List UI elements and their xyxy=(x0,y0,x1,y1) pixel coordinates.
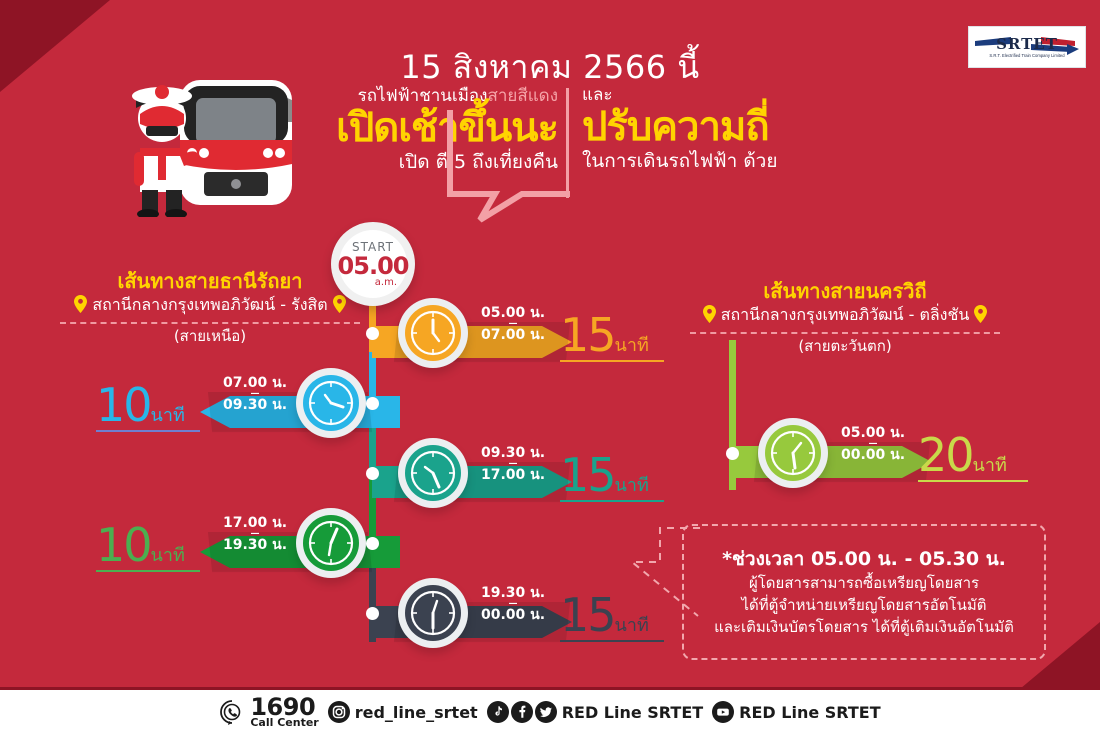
time-row-1: 05.00 น. — 07.00 น. 15นาที xyxy=(360,298,690,384)
start-badge-inner: START 05.00 a.m. xyxy=(339,230,407,298)
frequency-number: 10 xyxy=(96,378,151,432)
footer-contact-bar: 1690 Call Center red_line_srtet xyxy=(0,690,1100,734)
time-to: 09.30 น. xyxy=(223,397,287,414)
timeline-node-3 xyxy=(366,467,379,480)
timeline-node-2 xyxy=(366,397,379,410)
timeline-node-4 xyxy=(366,537,379,550)
frequency-unit: นาที xyxy=(615,615,649,636)
headline-left-sub-prefix: รถไฟฟ้าชานเมือง xyxy=(358,86,488,106)
headline-right-big: ปรับความถี่ xyxy=(582,105,882,149)
time-row-5: 19.30 น. — 00.00 น. 15นาที xyxy=(360,578,690,664)
frequency-number: 10 xyxy=(96,518,151,572)
frequency-unit: นาที xyxy=(615,475,649,496)
timeline-node-5 xyxy=(366,607,379,620)
twitter-icon[interactable] xyxy=(535,701,557,723)
svg-text:S.R.T. Electrified Train Compa: S.R.T. Electrified Train Company Limited xyxy=(989,53,1065,58)
frequency-unit: นาที xyxy=(973,455,1007,476)
instagram-icon[interactable] xyxy=(328,701,350,723)
route-subtitle: (สายตะวันตก) xyxy=(690,336,1000,356)
start-badge-time: 05.00 xyxy=(338,254,409,278)
route-heading-thani-rattaya: เส้นทางสายธานีรัถยา สถานีกลางกรุงเทพอภิว… xyxy=(60,268,360,346)
clock-icon-5 xyxy=(398,578,468,648)
time-to: 00.00 น. xyxy=(481,607,545,624)
frequency-3: 15นาที xyxy=(560,452,664,502)
instagram-handle: red_line_srtet xyxy=(355,703,478,722)
map-pin-icon xyxy=(703,305,716,329)
route-divider xyxy=(690,332,1000,334)
map-pin-icon xyxy=(74,295,87,319)
headline-right-note: ในการเดินรถไฟฟ้า ด้วย xyxy=(582,149,882,173)
time-row-3: 09.30 น. — 17.00 น. 15นาที xyxy=(360,438,690,524)
note-line-3: และเติมเงินบัตรโดยสาร ได้ที่ตู้เติมเงินอ… xyxy=(714,616,1014,638)
route-title: เส้นทางสายธานีรัถยา xyxy=(60,268,360,294)
clock-icon-1 xyxy=(398,298,468,368)
start-badge: START 05.00 a.m. xyxy=(331,222,415,306)
time-to: 17.00 น. xyxy=(481,467,545,484)
svg-text:SRTET: SRTET xyxy=(996,35,1058,53)
note-line-1: ผู้โดยสารสามารถซื้อเหรียญโดยสาร xyxy=(749,572,979,594)
frequency-number: 20 xyxy=(918,428,973,482)
srtet-logo: SRTET S.R.T. Electrified Train Company L… xyxy=(968,26,1086,68)
time-range-1: 05.00 น. — 07.00 น. xyxy=(470,298,556,350)
time-to: 07.00 น. xyxy=(481,327,545,344)
start-badge-suffix: a.m. xyxy=(375,278,397,288)
headline-left-sub-highlight: สายสีแดง xyxy=(487,86,558,106)
social-icon-group[interactable] xyxy=(487,701,557,723)
note-line-2: ได้ที่ตู้จำหน่ายเหรียญโดยสารอัตโนมัติ xyxy=(741,594,986,616)
timeline-node-1 xyxy=(366,327,379,340)
time-range-4: 17.00 น. — 19.30 น. xyxy=(212,508,298,560)
instagram-block[interactable]: red_line_srtet xyxy=(328,701,478,723)
frequency-right-1: 20นาที xyxy=(918,432,1028,482)
train-icon xyxy=(180,80,292,205)
route-stations-text: สถานีกลางกรุงเทพอภิวัฒน์ - ตลิ่งชัน xyxy=(721,305,970,324)
social-block[interactable]: RED Line SRTET xyxy=(487,701,703,723)
social-handle: RED Line SRTET xyxy=(562,703,703,722)
frequency-number: 15 xyxy=(560,308,615,362)
time-row-2: 07.00 น. — 09.30 น. 10นาที xyxy=(100,368,390,454)
note-box: *ช่วงเวลา 05.00 น. - 05.30 น. ผู้โดยสารส… xyxy=(682,524,1046,660)
call-center-label: Call Center xyxy=(250,717,318,728)
time-row-4: 17.00 น. — 19.30 น. 10นาที xyxy=(100,508,390,594)
clock-icon-4 xyxy=(296,508,366,578)
staff-and-train-illustration xyxy=(112,52,302,217)
frequency-4: 10นาที xyxy=(96,522,200,572)
time-row-right-1: 05.00 น. — 00.00 น. 20นาที xyxy=(720,418,1050,504)
timeline-node-right-1 xyxy=(726,447,739,460)
time-range-3: 09.30 น. — 17.00 น. xyxy=(470,438,556,490)
route-subtitle: (สายเหนือ) xyxy=(60,326,360,346)
youtube-icon[interactable] xyxy=(712,701,734,723)
headline-right: และ ปรับความถี่ ในการเดินรถไฟฟ้า ด้วย xyxy=(582,86,882,173)
map-pin-icon xyxy=(974,305,987,329)
route-title: เส้นทางสายนครวิถี xyxy=(690,278,1000,304)
route-stations: สถานีกลางกรุงเทพอภิวัฒน์ - ตลิ่งชัน xyxy=(690,304,1000,329)
srtet-logo-mark: SRTET S.R.T. Electrified Train Company L… xyxy=(971,30,1083,64)
route-stations-text: สถานีกลางกรุงเทพอภิวัฒน์ - รังสิต xyxy=(92,295,327,314)
route-divider xyxy=(60,322,360,324)
frequency-unit: นาที xyxy=(615,335,649,356)
frequency-unit: นาที xyxy=(151,545,185,566)
call-center-number: 1690 xyxy=(250,697,318,717)
youtube-block[interactable]: RED Line SRTET xyxy=(712,701,880,723)
call-center-block: 1690 Call Center xyxy=(219,697,318,728)
headline-and-label: และ xyxy=(582,86,882,105)
frequency-number: 15 xyxy=(560,448,615,502)
time-to: 00.00 น. xyxy=(841,447,905,464)
time-range-5: 19.30 น. — 00.00 น. xyxy=(470,578,556,630)
frequency-unit: นาที xyxy=(151,405,185,426)
frequency-1: 15นาที xyxy=(560,312,664,362)
tiktok-icon[interactable] xyxy=(487,701,509,723)
note-title: *ช่วงเวลา 05.00 น. - 05.30 น. xyxy=(722,546,1006,572)
map-pin-icon xyxy=(333,295,346,319)
time-range-right-1: 05.00 น. — 00.00 น. xyxy=(830,418,916,470)
route-heading-nakhon-withi: เส้นทางสายนครวิถี สถานีกลางกรุงเทพอภิวัฒ… xyxy=(690,278,1000,356)
phone-icon xyxy=(219,699,245,725)
header-block: 15 สิงหาคม 2566 นี้ รถไฟฟ้าชานเมืองสายสี… xyxy=(0,0,1100,230)
frequency-number: 15 xyxy=(560,588,615,642)
frequency-5: 15นาที xyxy=(560,592,664,642)
time-range-2: 07.00 น. — 09.30 น. xyxy=(212,368,298,420)
infographic-poster: SRTET S.R.T. Electrified Train Company L… xyxy=(0,0,1100,734)
clock-icon-right-1 xyxy=(758,418,828,488)
youtube-handle: RED Line SRTET xyxy=(739,703,880,722)
clock-icon-3 xyxy=(398,438,468,508)
route-stations: สถานีกลางกรุงเทพอภิวัฒน์ - รังสิต xyxy=(60,294,360,319)
facebook-icon[interactable] xyxy=(511,701,533,723)
clock-icon-2 xyxy=(296,368,366,438)
headline-left-sub: รถไฟฟ้าชานเมืองสายสีแดง xyxy=(290,86,558,106)
frequency-2: 10นาที xyxy=(96,382,200,432)
time-to: 19.30 น. xyxy=(223,537,287,554)
